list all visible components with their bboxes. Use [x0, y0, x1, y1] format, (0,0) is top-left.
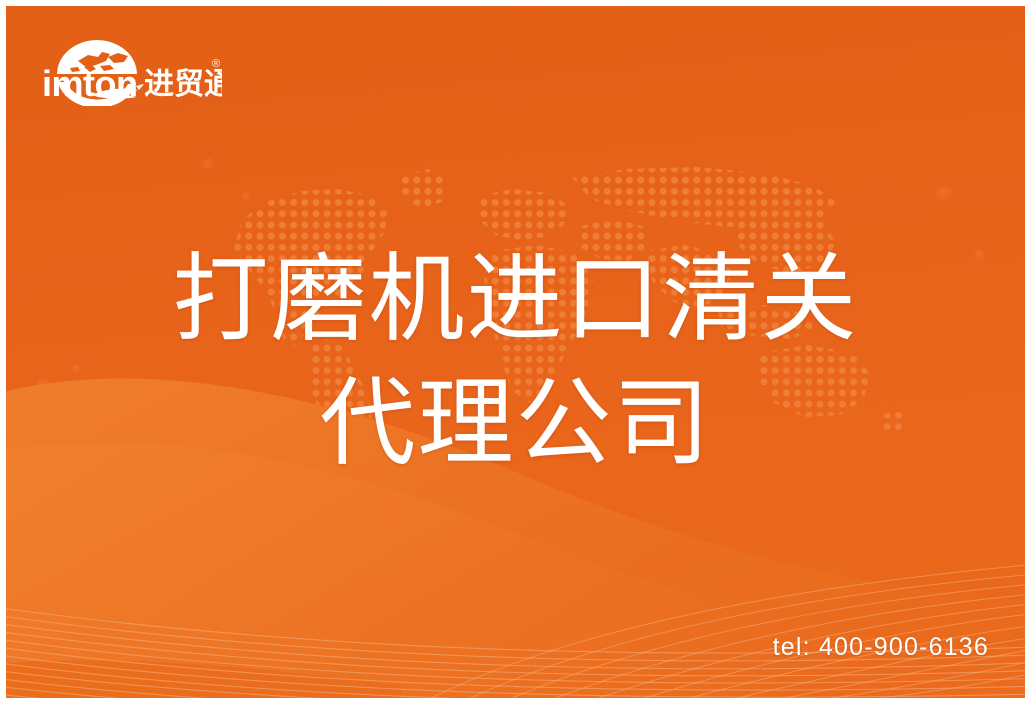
contact-phone[interactable]: tel: 400-900-6136: [773, 633, 989, 662]
imton-logo[interactable]: imton 进贸通 ®: [40, 34, 222, 106]
promo-banner: imton 进贸通 ® 打磨机进口清关 代理公司 tel: 400-900-61…: [0, 0, 1031, 704]
logo-wordmark: imton: [42, 63, 137, 104]
logo-chinese-name: 进贸通: [144, 67, 222, 102]
headline-line-1: 打磨机进口清关: [6, 238, 1025, 362]
page-title: 打磨机进口清关 代理公司: [6, 238, 1025, 486]
headline-line-2: 代理公司: [6, 362, 1025, 486]
registered-trademark-icon: ®: [212, 58, 220, 70]
